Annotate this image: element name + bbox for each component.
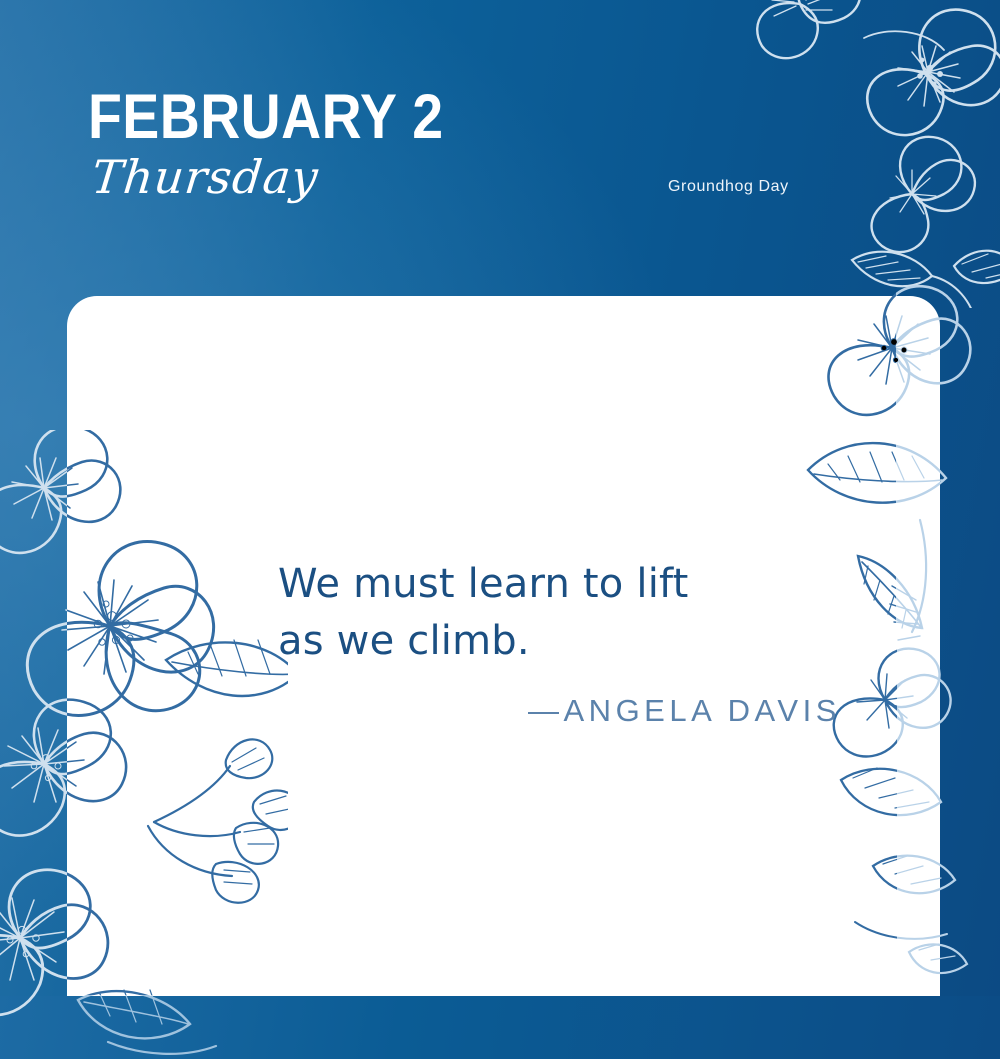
quote-line-2: as we climb. (278, 613, 858, 670)
page-header: FEBRUARY 2 Thursday Groundhog Day (0, 0, 1000, 296)
calendar-page: FEBRUARY 2 Thursday Groundhog Day We mus… (0, 0, 1000, 1059)
holiday-label: Groundhog Day (668, 178, 789, 196)
quote-block: We must learn to lift as we climb. (278, 556, 858, 670)
weekday-label: Thursday (89, 152, 321, 203)
quote-attribution: —ANGELA DAVIS (528, 693, 841, 729)
footer-band (0, 996, 1000, 1059)
quote-line-1: We must learn to lift (278, 556, 858, 613)
date-title: FEBRUARY 2 (88, 86, 444, 149)
